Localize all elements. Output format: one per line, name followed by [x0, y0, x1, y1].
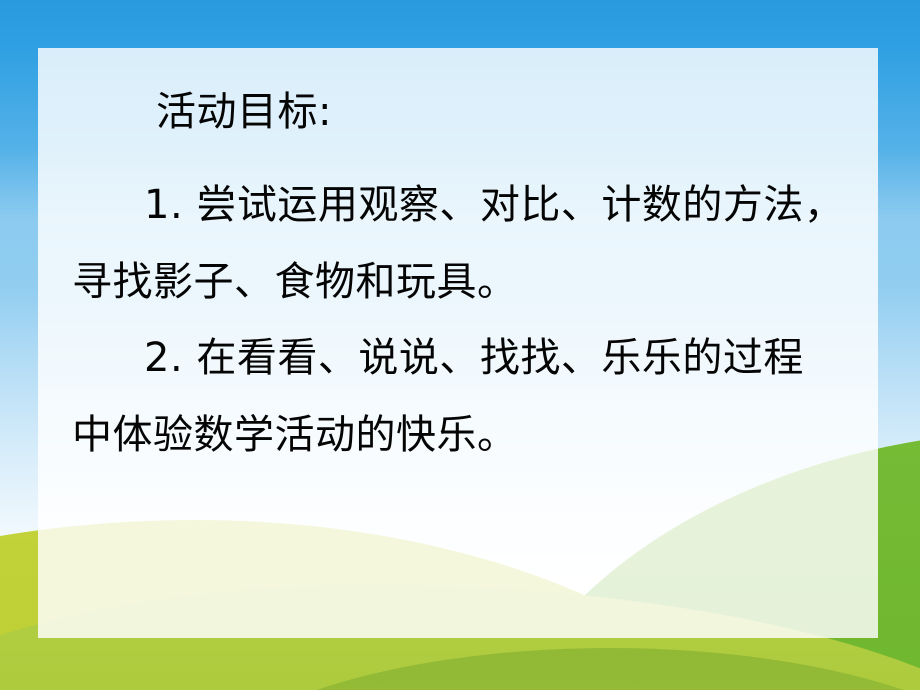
objectives-text-block: 活动目标: 1. 尝试运用观察、对比、计数的方法， 寻找影子、食物和玩具。 2.… [72, 74, 844, 474]
objective-1-line-2: 寻找影子、食物和玩具。 [72, 244, 844, 321]
slide-canvas: 活动目标: 1. 尝试运用观察、对比、计数的方法， 寻找影子、食物和玩具。 2.… [0, 0, 920, 690]
spacer [72, 151, 844, 167]
objective-2-line-1: 2. 在看看、说说、找找、乐乐的过程 [72, 320, 844, 397]
objective-2-line-2: 中体验数学活动的快乐。 [72, 397, 844, 474]
page-title: 活动目标: [72, 74, 844, 151]
content-panel: 活动目标: 1. 尝试运用观察、对比、计数的方法， 寻找影子、食物和玩具。 2.… [38, 48, 878, 638]
objective-1-line-1: 1. 尝试运用观察、对比、计数的方法， [72, 167, 844, 244]
